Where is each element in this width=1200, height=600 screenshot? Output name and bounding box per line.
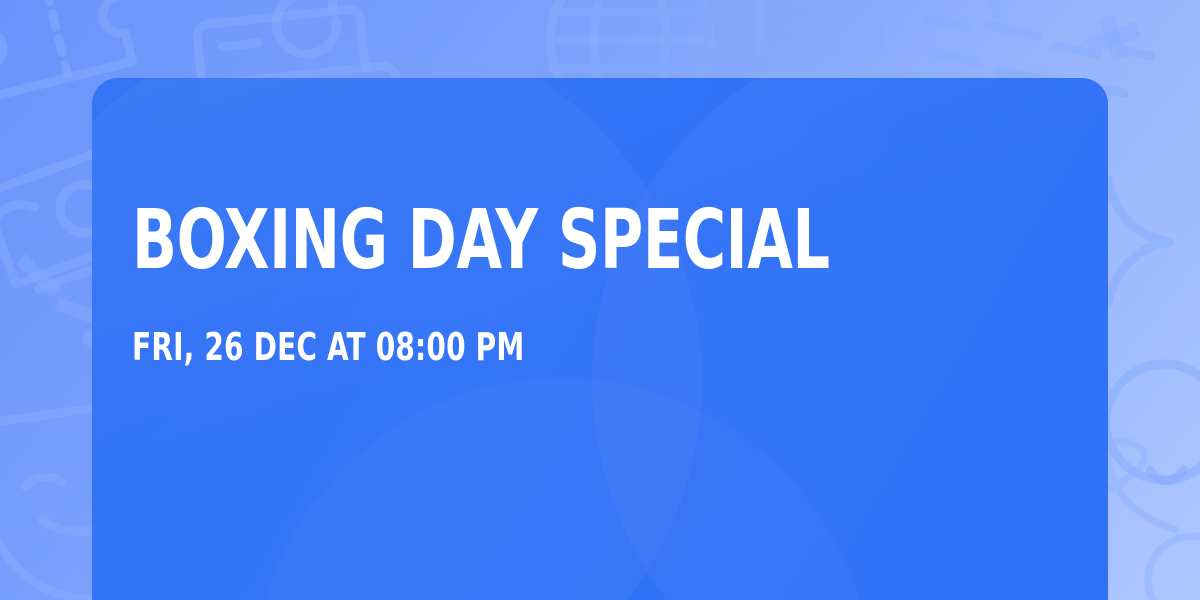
board-icons-top: [760, 0, 880, 50]
event-datetime: Fri, 26 Dec at 08:00 PM: [132, 328, 900, 366]
event-title: Boxing Day Special: [132, 200, 881, 282]
event-banner: Boxing Day Special Fri, 26 Dec at 08:00 …: [0, 0, 1200, 600]
event-card[interactable]: Boxing Day Special Fri, 26 Dec at 08:00 …: [92, 78, 1108, 600]
card-content: Boxing Day Special Fri, 26 Dec at 08:00 …: [132, 200, 1068, 366]
star-icon: [1082, 9, 1145, 67]
